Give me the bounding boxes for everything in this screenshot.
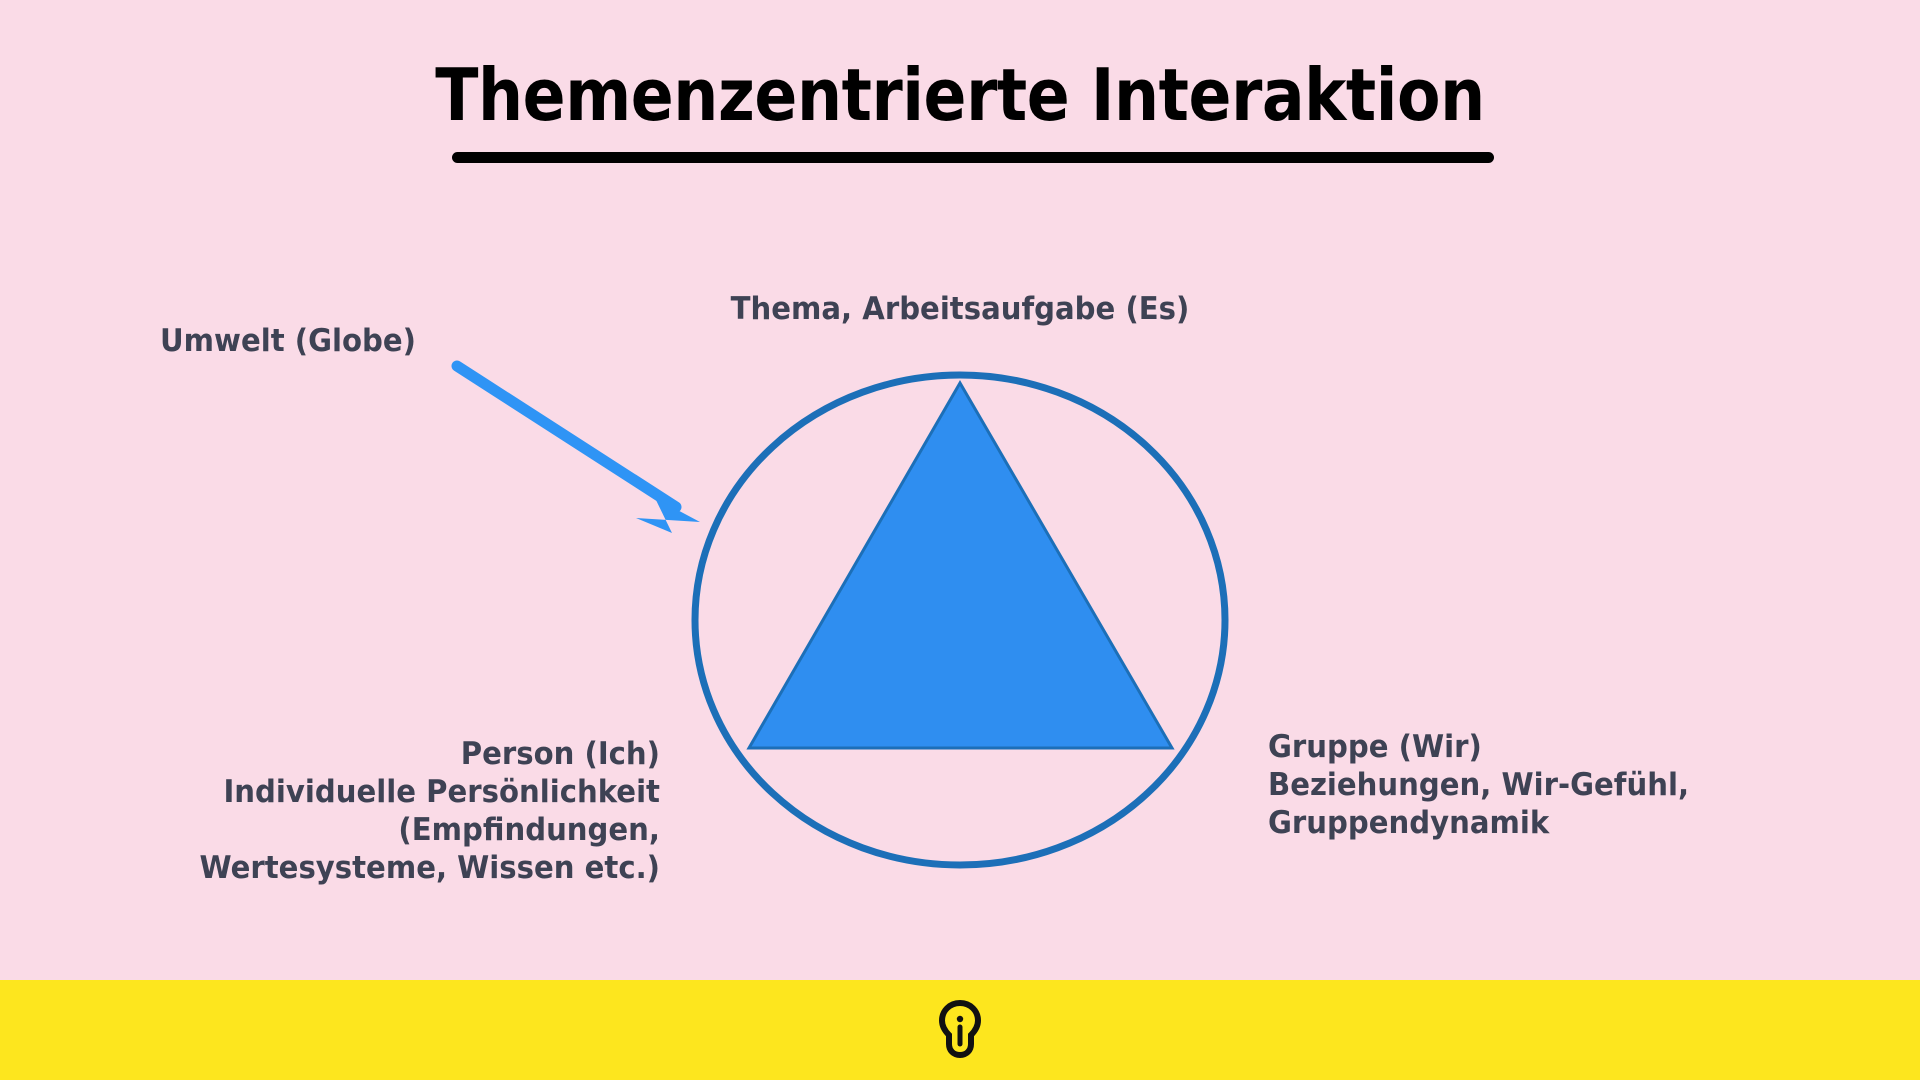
- label-thema-arbeitsaufgabe: Thema, Arbeitsaufgabe (Es): [716, 290, 1205, 328]
- title-underline: [452, 152, 1494, 163]
- umwelt-pointer-arrow-shaft: [457, 366, 676, 507]
- title-block: Themenzentrierte Interaktion: [0, 52, 1920, 138]
- label-umwelt-globe: Umwelt (Globe): [160, 322, 442, 360]
- label-person-ich: Person (Ich) Individuelle Persönlichkeit…: [152, 735, 660, 887]
- label-gruppe-wir: Gruppe (Wir) Beziehungen, Wir-Gefühl, Gr…: [1268, 728, 1757, 842]
- globe-circle: [695, 375, 1225, 865]
- umwelt-pointer-arrow-head: [636, 498, 700, 533]
- lightbulb-idea-logo: [937, 1000, 983, 1060]
- tzi-triangle: [749, 383, 1172, 748]
- footer-bar: [0, 980, 1920, 1080]
- slide-canvas: Themenzentrierte Interaktion Umwelt (Glo…: [0, 0, 1920, 1080]
- page-title: Themenzentrierte Interaktion: [115, 52, 1805, 138]
